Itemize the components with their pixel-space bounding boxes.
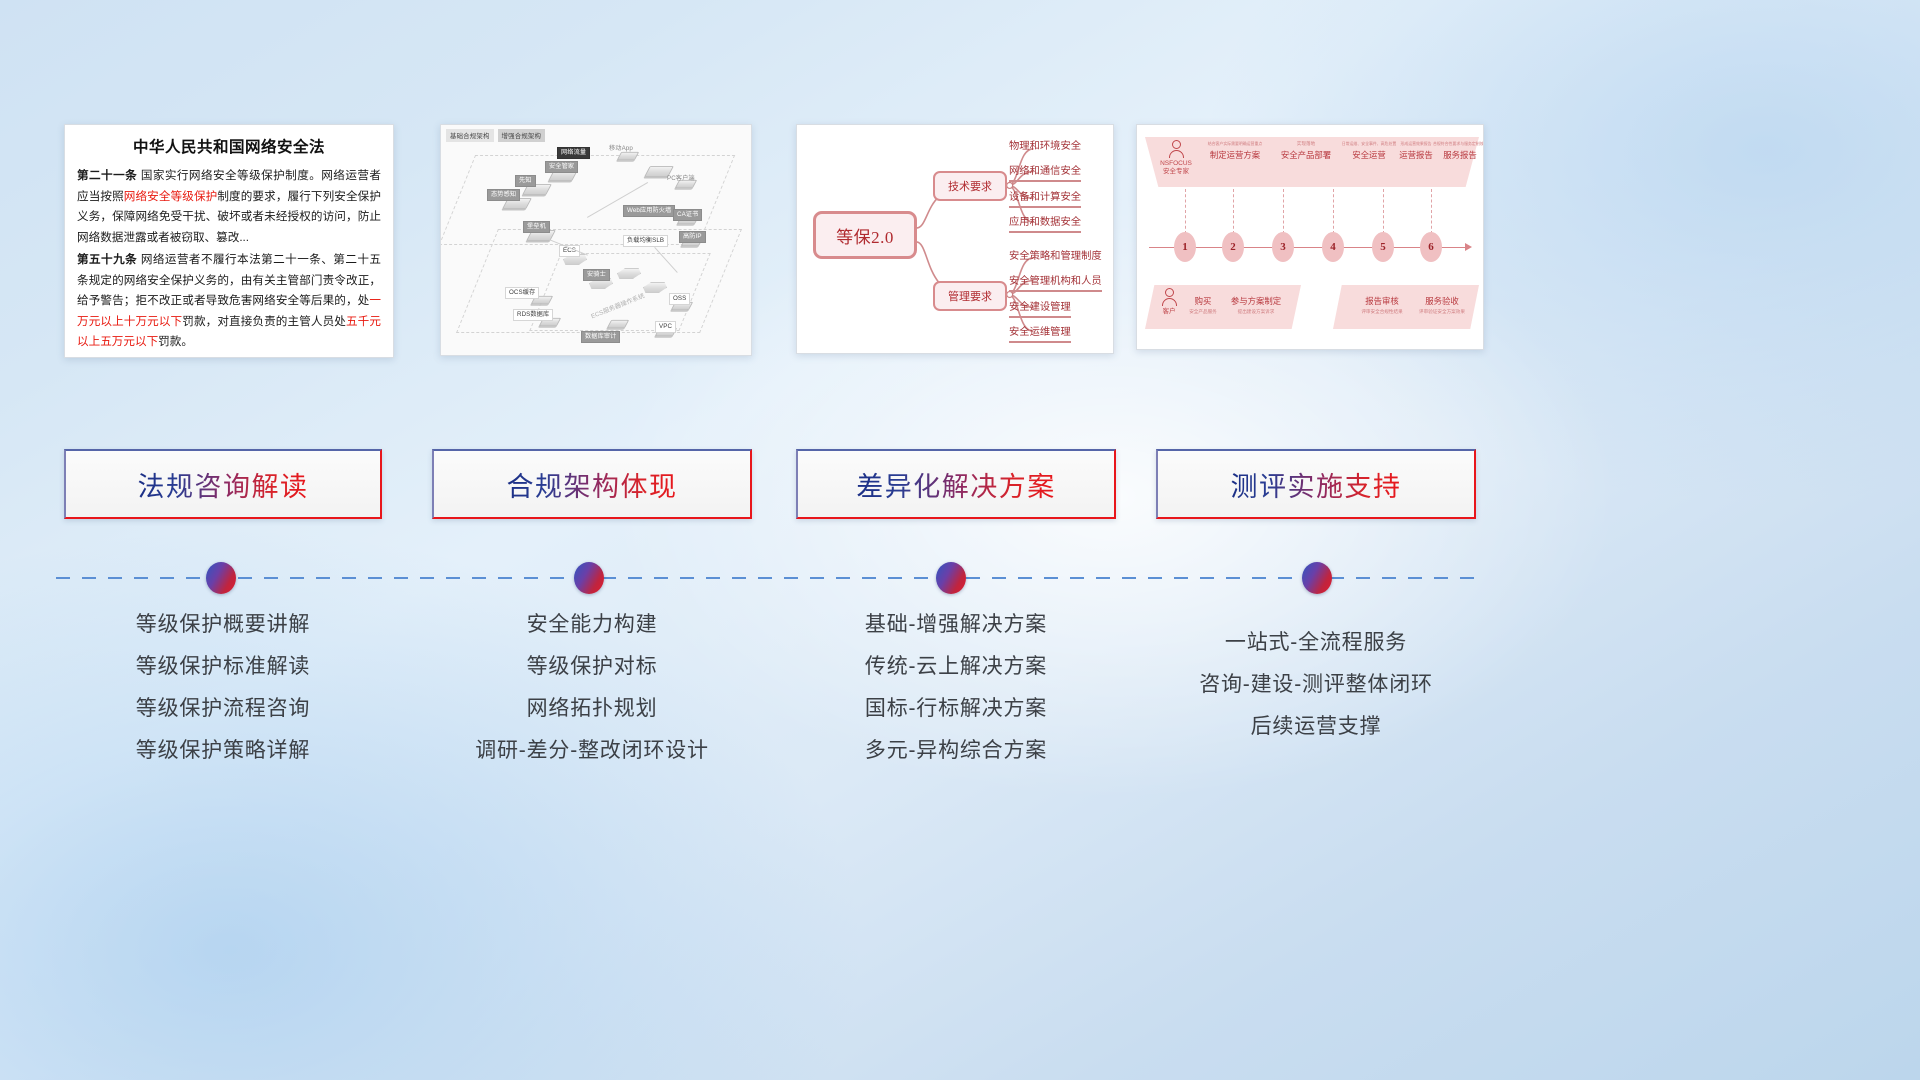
list-item: 一站式-全流程服务	[1156, 622, 1476, 664]
title-label-3: 差异化解决方案	[856, 465, 1056, 504]
tab-enhanced-architecture[interactable]: 增强合规架构	[498, 129, 546, 142]
bottom-step-3: 报告审核 评审安全合规性结果	[1355, 295, 1409, 315]
title-box-regulation-consulting[interactable]: 法规咨询解读	[64, 449, 382, 519]
mindmap-root: 等保2.0	[813, 211, 917, 259]
title-label-4: 测评实施支持	[1231, 465, 1402, 504]
title-label-2: 合规架构体现	[507, 465, 678, 504]
expert-brand: NSFOCUS	[1153, 160, 1199, 168]
law-document: 中华人民共和国网络安全法 第二十一条 国家实行网络安全等级保护制度。网络运营者应…	[65, 125, 393, 358]
timeline-marker-2[interactable]	[574, 562, 604, 594]
connector-6	[1431, 189, 1432, 234]
connector-1	[1185, 189, 1186, 234]
detail-list-regulation: 等级保护概要讲解 等级保护标准解读 等级保护流程咨询 等级保护策略详解	[64, 604, 382, 772]
top-step-1: 结合客户实际需要明确运营重点 制定运营方案	[1199, 141, 1271, 161]
node-ocs-cache: OCS缓存	[505, 287, 539, 299]
law-title: 中华人民共和国网络安全法	[77, 135, 381, 157]
list-item: 等级保护对标	[432, 646, 752, 688]
list-item: 后续运营支撑	[1156, 706, 1476, 748]
title-row: 法规咨询解读 合规架构体现 差异化解决方案 测评实施支持	[0, 449, 1920, 521]
mindmap-leaf-physical-env: 物理和环境安全	[1009, 137, 1081, 155]
law-article-59: 第五十九条 网络运营者不履行本法第二十一条、第二十五条规定的网络安全保护义务的，…	[77, 250, 381, 353]
mindmap-leaf-network-comm: 网络和通信安全	[1009, 162, 1081, 182]
top-step-5: 合规符合性要求与服务定制效果 服务报告	[1433, 141, 1484, 161]
title-label-1: 法规咨询解读	[138, 465, 309, 504]
timeline-number-4: 4	[1322, 232, 1344, 262]
list-item: 传统-云上解决方案	[796, 646, 1116, 688]
list-item: 咨询-建设-测评整体闭环	[1156, 664, 1476, 706]
title-box-assessment-support[interactable]: 测评实施支持	[1156, 449, 1476, 519]
node-situation-awareness: 态势感知	[487, 189, 520, 201]
node-network-traffic: 网络流量	[557, 147, 590, 159]
bottom-step-4: 服务验收 评审验证安全方案效果	[1413, 295, 1471, 315]
expert-persona: NSFOCUS 安全专家	[1153, 139, 1199, 176]
list-item: 安全能力构建	[432, 604, 752, 646]
node-ca-certificate: CA证书	[673, 209, 702, 221]
article-59-text-c: 罚款。	[158, 335, 193, 348]
detail-lists-row: 等级保护概要讲解 等级保护标准解读 等级保护流程咨询 等级保护策略详解 安全能力…	[0, 604, 1920, 824]
tab-basic-architecture[interactable]: 基础合规架构	[446, 129, 494, 142]
card-service-timeline: NSFOCUS 安全专家 结合客户实际需要明确运营重点 制定运营方案 实现落地 …	[1136, 124, 1484, 350]
timeline-marker-3[interactable]	[936, 562, 966, 594]
node-vpc: VPC	[655, 321, 676, 333]
timeline-number-1: 1	[1174, 232, 1196, 262]
bottom-step-2: 参与方案制定 提出建设方案诉求	[1223, 295, 1289, 315]
timeline-number-6: 6	[1420, 232, 1442, 262]
list-item: 基础-增强解决方案	[796, 604, 1116, 646]
connector-2	[1233, 189, 1234, 234]
title-box-differentiated-solution[interactable]: 差异化解决方案	[796, 449, 1116, 519]
node-waf: Web应用防火墙	[623, 205, 675, 217]
mindmap-leaf-device-compute: 设备和计算安全	[1009, 188, 1081, 208]
card-cybersecurity-law: 中华人民共和国网络安全法 第二十一条 国家实行网络安全等级保护制度。网络运营者应…	[64, 124, 394, 358]
node-rds-database: RDS数据库	[513, 309, 553, 321]
mindmap-leaf-org-personnel: 安全管理机构和人员	[1009, 272, 1102, 292]
list-item: 等级保护概要讲解	[64, 604, 382, 646]
node-mobile-app: 移动App	[609, 143, 633, 152]
mindmap-diagram: 等保2.0 技术要求 管理要求 物理和环境安全 网络和通信安全 设备和计算安全 …	[797, 125, 1113, 353]
card-cloud-architecture: 基础合规架构 增强合规架构	[440, 124, 752, 356]
node-security-butler: 安全管家	[545, 161, 578, 173]
list-item: 等级保护流程咨询	[64, 688, 382, 730]
nsfocus-timeline-diagram: NSFOCUS 安全专家 结合客户实际需要明确运营重点 制定运营方案 实现落地 …	[1137, 125, 1483, 349]
law-article-21: 第二十一条 国家实行网络安全等级保护制度。网络运营者应当按照网络安全等级保护制度…	[77, 166, 381, 248]
timeline-marker-4[interactable]	[1302, 562, 1332, 594]
cloud-architecture-diagram: 基础合规架构 增强合规架构	[441, 125, 751, 355]
mindmap-branch-technical: 技术要求	[933, 171, 1007, 201]
connector-4	[1333, 189, 1334, 234]
timeline-number-5: 5	[1372, 232, 1394, 262]
node-oss: OSS	[669, 293, 690, 305]
node-xianzhi: 先知	[515, 175, 536, 187]
article-21-label: 第二十一条	[77, 169, 137, 182]
mindmap-leaf-construction-mgmt: 安全建设管理	[1009, 298, 1071, 318]
timeline-arrow-icon	[1465, 243, 1472, 251]
cards-row: 中华人民共和国网络安全法 第二十一条 国家实行网络安全等级保护制度。网络运营者应…	[0, 124, 1920, 362]
mindmap-leaf-ops-mgmt: 安全运维管理	[1009, 323, 1071, 343]
detail-list-assessment: 一站式-全流程服务 咨询-建设-测评整体闭环 后续运营支撑	[1156, 622, 1476, 748]
connector-3	[1283, 189, 1284, 234]
architecture-tabs: 基础合规架构 增强合规架构	[446, 129, 545, 142]
article-59-label: 第五十九条	[77, 253, 137, 266]
process-timeline	[0, 560, 1920, 596]
article-59-text-b: 罚款，对直接负责的主管人员处	[182, 315, 346, 328]
top-step-2: 实现落地 安全产品部署	[1275, 141, 1337, 161]
list-item: 调研-差分-整改闭环设计	[432, 730, 752, 772]
list-item: 多元-异构综合方案	[796, 730, 1116, 772]
detail-list-solution: 基础-增强解决方案 传统-云上解决方案 国标-行标解决方案 多元-异构综合方案	[796, 604, 1116, 772]
article-21-highlight: 网络安全等级保护	[124, 190, 218, 203]
customer-body-icon	[1162, 298, 1177, 306]
timeline-number-2: 2	[1222, 232, 1244, 262]
connector-5	[1383, 189, 1384, 234]
detail-list-architecture: 安全能力构建 等级保护对标 网络拓扑规划 调研-差分-整改闭环设计	[432, 604, 752, 772]
timeline-dashed-line	[56, 577, 1486, 579]
list-item: 国标-行标解决方案	[796, 688, 1116, 730]
expert-head-icon	[1172, 140, 1181, 149]
title-box-compliance-architecture[interactable]: 合规架构体现	[432, 449, 752, 519]
mindmap-leaf-app-data: 应用和数据安全	[1009, 213, 1081, 233]
list-item: 等级保护策略详解	[64, 730, 382, 772]
timeline-number-3: 3	[1272, 232, 1294, 262]
node-anqishi: 安骑士	[583, 269, 610, 281]
node-pc-client: PC客户端	[667, 173, 695, 182]
node-slb: 负载均衡SLB	[623, 235, 668, 247]
bottom-step-1: 购买 安全产品服务	[1183, 295, 1223, 315]
expert-role: 安全专家	[1153, 168, 1199, 176]
mindmap-branch-management: 管理要求	[933, 281, 1007, 311]
mindmap-leaf-policy-system: 安全策略和管理制度	[1009, 247, 1102, 265]
node-anti-ddos-ip: 高防IP	[679, 231, 706, 243]
card-mindmap: 等保2.0 技术要求 管理要求 物理和环境安全 网络和通信安全 设备和计算安全 …	[796, 124, 1114, 354]
node-bastion-host: 堡垒机	[523, 221, 550, 233]
timeline-marker-1[interactable]	[206, 562, 236, 594]
node-db-audit: 数据库审计	[581, 331, 620, 343]
expert-body-icon	[1169, 150, 1184, 158]
list-item: 等级保护标准解读	[64, 646, 382, 688]
list-item: 网络拓扑规划	[432, 688, 752, 730]
customer-head-icon	[1165, 288, 1174, 297]
